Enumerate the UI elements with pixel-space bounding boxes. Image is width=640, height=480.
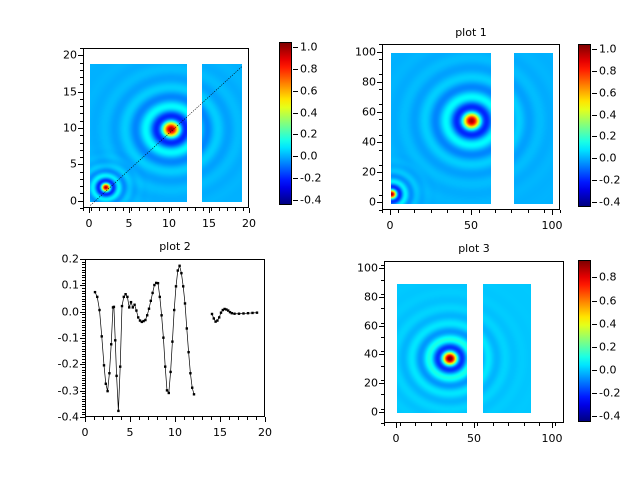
y-tick-minor	[381, 366, 384, 367]
y-tick-major	[379, 297, 384, 298]
y-tick-minor	[381, 351, 384, 352]
colorbar-tick-label: 0.6	[599, 295, 617, 308]
x-tick-major	[396, 423, 397, 428]
y-tick-minor	[381, 265, 384, 266]
x-tick-minor	[477, 423, 478, 426]
y-tick-label: 20	[336, 377, 378, 390]
y-tick-minor	[381, 337, 384, 338]
y-tick-label: 40	[336, 348, 378, 361]
heatmap-patch	[483, 284, 531, 413]
y-tick-minor	[381, 308, 384, 309]
colorbar-tick-label: 0.0	[599, 364, 617, 377]
colorbar-plot3	[578, 260, 591, 422]
x-tick-label: 50	[467, 432, 481, 445]
y-tick-minor	[381, 394, 384, 395]
x-tick-minor	[400, 423, 401, 426]
colorbar-tick	[592, 324, 597, 325]
x-tick-minor	[384, 423, 385, 426]
y-tick-label: 100	[336, 262, 378, 275]
y-tick-label: 60	[336, 320, 378, 333]
y-tick-major	[379, 412, 384, 413]
y-tick-major	[379, 326, 384, 327]
y-tick-minor	[381, 294, 384, 295]
colorbar-tick	[592, 347, 597, 348]
colorbar-tick-label: -0.2	[599, 387, 620, 400]
colorbar-tick	[592, 277, 597, 278]
x-tick-minor	[508, 423, 509, 426]
plot-area-plot3	[384, 261, 564, 423]
colorbar-tick-label: 0.8	[599, 271, 617, 284]
x-tick-minor	[524, 423, 525, 426]
y-tick-major	[379, 268, 384, 269]
x-tick-label: 0	[393, 432, 400, 445]
x-tick-minor	[493, 423, 494, 426]
y-tick-label: 80	[336, 291, 378, 304]
colorbar-tick	[592, 416, 597, 417]
colorbar-tick	[592, 301, 597, 302]
colorbar-tick-label: 0.4	[599, 318, 617, 331]
x-tick-minor	[539, 423, 540, 426]
figure-canvas: 05101520051015201.00.80.60.40.20.0-0.2-0…	[0, 0, 640, 480]
y-tick-major	[379, 383, 384, 384]
y-tick-minor	[381, 323, 384, 324]
x-tick-label: 100	[542, 432, 563, 445]
heatmap-patch	[397, 284, 467, 413]
colorbar-tick-label: 0.2	[599, 341, 617, 354]
x-tick-minor	[555, 423, 556, 426]
subplot-plot3: plot 30204060801000501000.80.60.40.20.0-…	[0, 0, 640, 480]
y-tick-minor	[381, 280, 384, 281]
x-tick-minor	[462, 423, 463, 426]
colorbar-tick-label: -0.4	[599, 410, 620, 423]
y-tick-minor	[381, 380, 384, 381]
y-tick-minor	[381, 409, 384, 410]
y-tick-label: 0	[336, 406, 378, 419]
x-tick-major	[552, 423, 553, 428]
x-tick-minor	[446, 423, 447, 426]
axes-title-plot3: plot 3	[384, 242, 564, 255]
x-tick-minor	[431, 423, 432, 426]
colorbar-tick	[592, 370, 597, 371]
x-tick-minor	[415, 423, 416, 426]
colorbar-tick	[592, 393, 597, 394]
y-tick-major	[379, 354, 384, 355]
x-tick-major	[474, 423, 475, 428]
